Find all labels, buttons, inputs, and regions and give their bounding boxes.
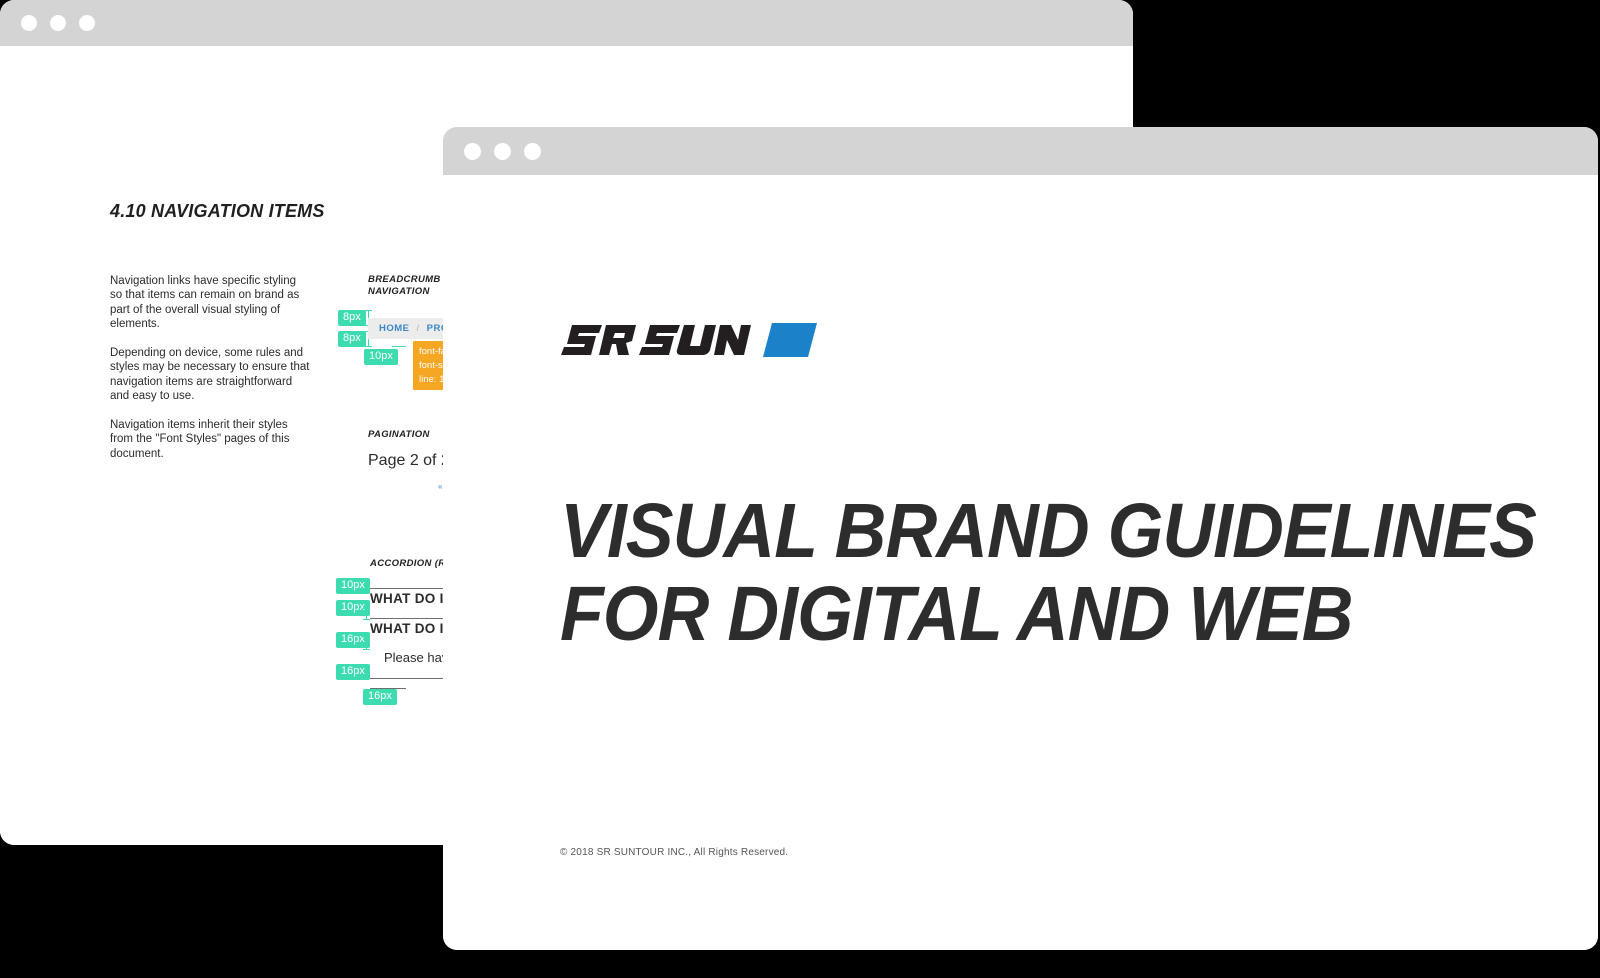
front-window-traffic-lights: [464, 143, 541, 160]
measure-tick-cap-acc-4: [363, 619, 370, 620]
body-paragraph-2: Depending on device, some rules and styl…: [110, 346, 310, 404]
pagination-sample: Page 2 of 2.: [368, 452, 454, 470]
accordion-body-text: Please hav: [384, 650, 448, 665]
measure-tick-cap-acc-8: [363, 677, 370, 678]
close-dot-icon[interactable]: [464, 143, 481, 160]
measure-tick-cap-acc-5: [363, 636, 370, 637]
logo-accent-block-icon: [763, 323, 817, 357]
page-title: 4.10 NAVIGATION ITEMS: [110, 201, 325, 222]
maximize-dot-icon[interactable]: [79, 15, 95, 31]
measure-tick-3: [392, 346, 406, 347]
measure-chip-breadcrumb-gap: 10px: [364, 349, 398, 365]
body-paragraph-3: Navigation items inherit their styles fr…: [110, 418, 310, 461]
close-dot-icon[interactable]: [21, 15, 37, 31]
back-window-titlebar[interactable]: [0, 0, 1133, 46]
cover-title-line-2: FOR DIGITAL AND WEB: [560, 573, 1453, 656]
measure-tick-acc-3: [366, 636, 367, 650]
minimize-dot-icon[interactable]: [494, 143, 511, 160]
measure-tick-cap-acc-6: [363, 649, 370, 650]
measure-tick-cap-acc-1: [363, 580, 370, 581]
front-window-titlebar[interactable]: [443, 127, 1598, 175]
back-window-traffic-lights: [21, 15, 95, 31]
measure-tick-cap-acc-2: [363, 591, 370, 592]
cover-title: VISUAL BRAND GUIDELINES FOR DIGITAL AND …: [560, 490, 1453, 656]
breadcrumb-item-home[interactable]: HOME: [379, 323, 410, 334]
cover-title-line-1: VISUAL BRAND GUIDELINES: [560, 490, 1453, 573]
measure-chip-accordion-3: 16px: [336, 632, 370, 648]
measure-chip-breadcrumb-bottom: 8px: [338, 331, 366, 347]
sr-suntour-logo: [558, 319, 817, 361]
breadcrumb-label-line2: NAVIGATION: [368, 286, 430, 297]
front-window-content: VISUAL BRAND GUIDELINES FOR DIGITAL AND …: [443, 175, 1598, 950]
copyright-notice: © 2018 SR SUNTOUR INC., All Rights Reser…: [560, 847, 788, 858]
measure-tick-cap-4: [365, 346, 372, 347]
measure-tick-cap-1: [365, 310, 372, 311]
pagination-prev-icon[interactable]: «: [438, 482, 442, 491]
maximize-dot-icon[interactable]: [524, 143, 541, 160]
screenshot-stage: 4.10 NAVIGATION ITEMS Navigation links h…: [0, 0, 1600, 978]
measure-tick-cap-acc-3: [363, 608, 370, 609]
measure-tick-cap-acc-7: [363, 666, 370, 667]
minimize-dot-icon[interactable]: [50, 15, 66, 31]
measure-chip-breadcrumb-top: 8px: [338, 310, 366, 326]
breadcrumb-separator-icon: /: [417, 323, 420, 334]
sr-suntour-wordmark-icon: [558, 319, 763, 361]
breadcrumb-label-line1: BREADCRUMB: [368, 274, 441, 285]
body-paragraph-1: Navigation links have specific styling s…: [110, 274, 310, 332]
body-copy: Navigation links have specific styling s…: [110, 274, 310, 461]
front-browser-window[interactable]: VISUAL BRAND GUIDELINES FOR DIGITAL AND …: [443, 127, 1598, 950]
measure-chip-accordion-5: 16px: [363, 689, 397, 705]
